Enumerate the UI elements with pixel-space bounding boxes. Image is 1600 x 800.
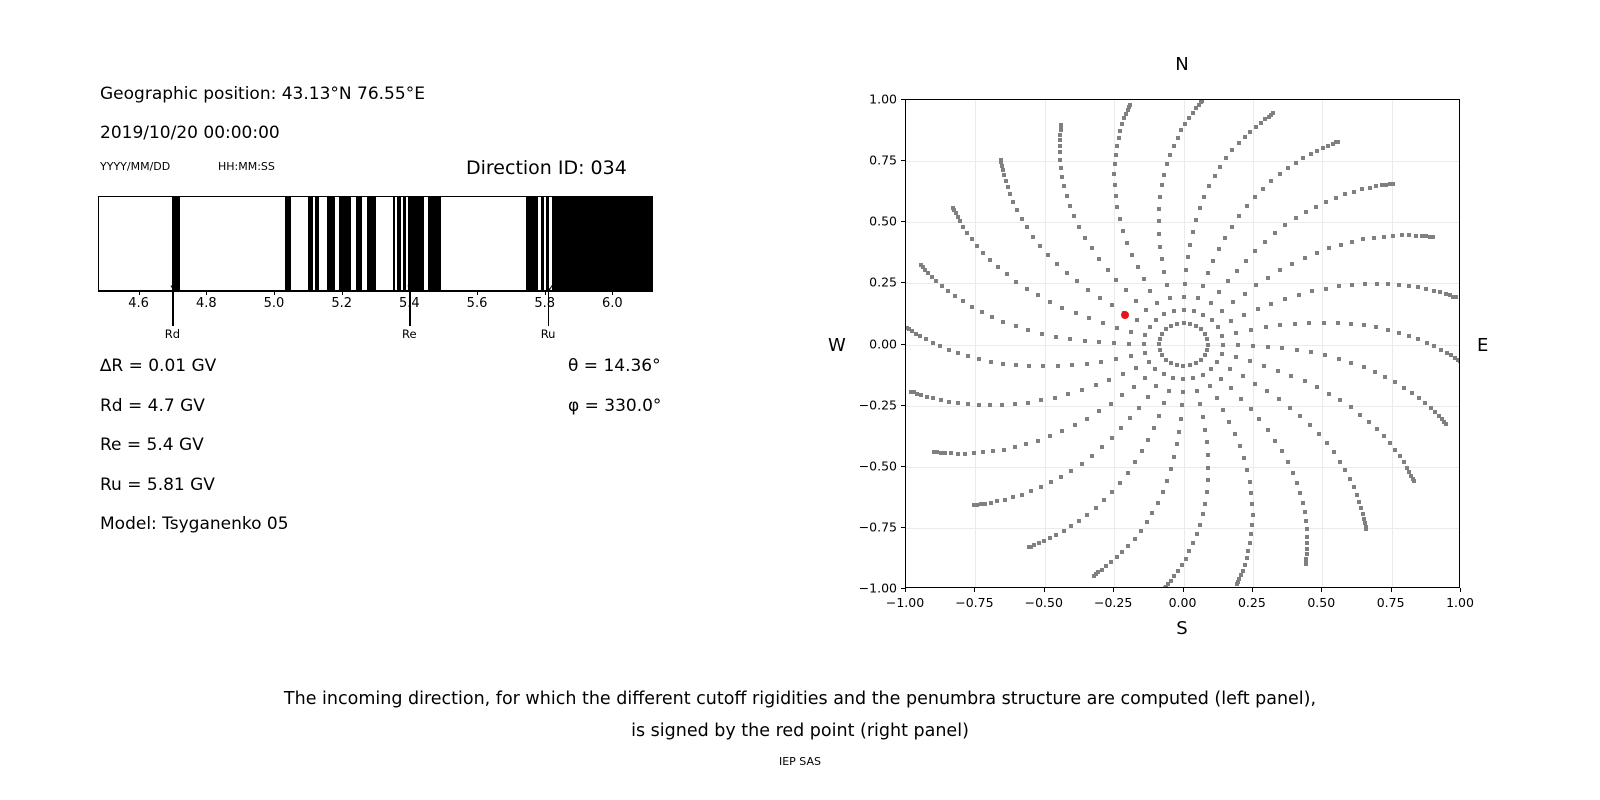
direction-point xyxy=(1322,321,1326,325)
time-format-hint: HH:MM:SS xyxy=(218,160,275,173)
gridline-vertical xyxy=(975,100,976,587)
date-format-hint: YYYY/MM/DD xyxy=(100,160,170,173)
direction-point xyxy=(1120,393,1124,397)
direction-point xyxy=(1075,279,1079,283)
direction-point xyxy=(1254,283,1258,287)
direction-point xyxy=(1182,321,1186,325)
direction-point xyxy=(1199,358,1203,362)
x-tick-label: −1.00 xyxy=(886,595,924,610)
direction-point xyxy=(925,395,929,399)
direction-point xyxy=(995,499,999,503)
direction-point xyxy=(1257,417,1261,421)
direction-point xyxy=(1162,173,1166,177)
direction-point xyxy=(1334,196,1338,200)
direction-point xyxy=(1321,146,1325,150)
direction-scatter-plot xyxy=(905,99,1460,588)
direction-point xyxy=(1004,179,1008,183)
direction-point xyxy=(958,219,962,223)
direction-point xyxy=(1085,362,1089,366)
direction-point xyxy=(1060,175,1064,179)
rigidity-tick-label: 4.6 xyxy=(128,296,149,311)
x-tick-label: −0.25 xyxy=(1094,595,1132,610)
direction-point xyxy=(1405,466,1409,470)
y-tick-mark xyxy=(901,221,905,222)
direction-point xyxy=(1058,138,1062,142)
direction-point xyxy=(1445,351,1449,355)
direction-point xyxy=(1133,460,1137,464)
x-tick-label: 1.00 xyxy=(1446,595,1474,610)
direction-point xyxy=(1099,360,1103,364)
direction-point xyxy=(1027,364,1031,368)
direction-point xyxy=(981,450,985,454)
direction-point xyxy=(1410,391,1414,395)
direction-point xyxy=(1286,460,1290,464)
direction-point xyxy=(1146,395,1150,399)
direction-point xyxy=(1177,430,1181,434)
direction-point xyxy=(1250,502,1254,506)
direction-point xyxy=(1191,376,1195,380)
direction-point xyxy=(1338,460,1342,464)
direction-point xyxy=(1114,194,1118,198)
direction-point xyxy=(1142,342,1146,346)
direction-point xyxy=(1191,541,1195,545)
direction-point xyxy=(1134,366,1138,370)
direction-point xyxy=(1109,402,1113,406)
direction-point xyxy=(1429,406,1433,410)
direction-point xyxy=(1383,375,1387,379)
direction-point xyxy=(1380,183,1384,187)
direction-point xyxy=(1154,318,1158,322)
direction-point xyxy=(1416,285,1420,289)
penumbra-band xyxy=(428,197,442,290)
direction-point xyxy=(1301,501,1305,505)
direction-point xyxy=(1423,401,1427,405)
y-tick-mark xyxy=(901,527,905,528)
direction-point xyxy=(1080,388,1084,392)
direction-point xyxy=(1283,223,1287,227)
direction-point xyxy=(1058,150,1062,154)
direction-point xyxy=(1234,355,1238,359)
direction-point xyxy=(1206,466,1210,470)
direction-point xyxy=(1097,257,1101,261)
direction-point xyxy=(1124,288,1128,292)
footer-credit: IEP SAS xyxy=(0,755,1600,768)
direction-point xyxy=(1160,183,1164,187)
direction-point xyxy=(1372,236,1376,240)
direction-point xyxy=(1400,233,1404,237)
direction-point xyxy=(965,231,969,235)
direction-point xyxy=(1432,344,1436,348)
parameter-right-1: φ = 330.0° xyxy=(568,396,661,416)
direction-point xyxy=(1172,144,1176,148)
direction-point xyxy=(1137,406,1141,410)
direction-point xyxy=(1100,568,1104,572)
direction-point xyxy=(1213,174,1217,178)
direction-point xyxy=(1233,432,1237,436)
direction-point xyxy=(1077,225,1081,229)
direction-point xyxy=(1025,287,1029,291)
penumbra-band xyxy=(408,197,424,290)
direction-point xyxy=(1029,489,1033,493)
gridline-horizontal xyxy=(906,528,1459,529)
direction-point xyxy=(1425,341,1429,345)
direction-point xyxy=(1109,560,1113,564)
gridline-vertical xyxy=(1184,100,1185,587)
direction-point xyxy=(956,452,960,456)
datetime-label: 2019/10/20 00:00:00 xyxy=(100,123,280,143)
direction-point xyxy=(989,360,993,364)
direction-point xyxy=(1207,184,1211,188)
direction-point xyxy=(1160,257,1164,261)
direction-point xyxy=(1241,374,1245,378)
y-tick-mark xyxy=(901,282,905,283)
direction-point xyxy=(1273,439,1277,443)
parameter-left-0: ∆R = 0.01 GV xyxy=(100,356,216,376)
direction-point xyxy=(1248,130,1252,134)
direction-point xyxy=(1163,586,1167,588)
x-tick-label: 0.00 xyxy=(1169,595,1197,610)
direction-point xyxy=(1176,136,1180,140)
direction-point xyxy=(1144,308,1148,312)
direction-point xyxy=(1003,498,1007,502)
y-tick-mark xyxy=(901,466,905,467)
direction-point xyxy=(1205,490,1209,494)
direction-point xyxy=(1062,529,1066,533)
direction-point xyxy=(1230,225,1234,229)
caption-line-1: The incoming direction, for which the di… xyxy=(0,683,1600,715)
direction-point xyxy=(1066,392,1070,396)
direction-point xyxy=(1375,282,1379,286)
direction-point xyxy=(1059,166,1063,170)
direction-point xyxy=(951,206,955,210)
direction-point xyxy=(1168,296,1172,300)
direction-point xyxy=(1083,236,1087,240)
rigidity-axis-line xyxy=(98,291,653,292)
penumbra-band xyxy=(552,197,653,290)
direction-point xyxy=(1315,251,1319,255)
direction-point xyxy=(1226,279,1230,283)
direction-point xyxy=(1026,328,1030,332)
direction-point xyxy=(1146,438,1150,442)
direction-point xyxy=(1162,372,1166,376)
direction-point xyxy=(1143,333,1147,337)
direction-point xyxy=(1154,384,1158,388)
direction-point xyxy=(1201,373,1205,377)
direction-point xyxy=(1361,512,1365,516)
direction-point xyxy=(1024,442,1028,446)
direction-point xyxy=(1332,450,1336,454)
direction-point xyxy=(1128,416,1132,420)
direction-point xyxy=(1181,364,1185,368)
direction-point xyxy=(1060,306,1064,310)
y-tick-label: −1.00 xyxy=(859,581,897,596)
direction-point xyxy=(1153,367,1157,371)
direction-point xyxy=(1235,269,1239,273)
direction-point xyxy=(940,284,944,288)
direction-point xyxy=(1133,537,1137,541)
direction-point xyxy=(1305,547,1309,551)
direction-point xyxy=(1097,409,1101,413)
direction-point xyxy=(1349,322,1353,326)
direction-point xyxy=(1058,133,1062,137)
direction-point xyxy=(1243,292,1247,296)
direction-point xyxy=(1367,420,1371,424)
parameter-left-2: Re = 5.4 GV xyxy=(100,435,204,455)
direction-point xyxy=(1305,535,1309,539)
direction-point xyxy=(1253,382,1257,386)
direction-point xyxy=(980,310,984,314)
direction-point xyxy=(1243,563,1247,567)
direction-point xyxy=(1236,343,1240,347)
direction-point xyxy=(1431,235,1435,239)
direction-point xyxy=(1158,245,1162,249)
direction-point xyxy=(1407,233,1411,237)
direction-point xyxy=(1059,475,1063,479)
direction-point xyxy=(1402,386,1406,390)
direction-point xyxy=(1243,135,1247,139)
direction-point xyxy=(1128,103,1132,107)
rigidity-tick-label: 5.8 xyxy=(534,296,555,311)
direction-point xyxy=(1161,490,1165,494)
direction-point xyxy=(1130,253,1134,257)
direction-point xyxy=(1143,376,1147,380)
penumbra-bands xyxy=(98,196,653,291)
direction-id-label: Direction ID: 034 xyxy=(466,157,627,179)
direction-point xyxy=(1182,295,1186,299)
rigidity-tick xyxy=(342,291,343,295)
direction-point xyxy=(1157,219,1161,223)
direction-point xyxy=(1266,276,1270,280)
compass-east-label: E xyxy=(1477,335,1488,356)
direction-point xyxy=(1113,183,1117,187)
direction-point xyxy=(972,451,976,455)
direction-point xyxy=(1206,453,1210,457)
direction-point xyxy=(1140,449,1144,453)
direction-point xyxy=(977,403,981,407)
direction-point xyxy=(1336,140,1340,144)
direction-point xyxy=(1172,309,1176,313)
direction-point xyxy=(1324,200,1328,204)
direction-point xyxy=(1249,407,1253,411)
direction-point xyxy=(1237,214,1241,218)
direction-point xyxy=(1305,527,1309,531)
direction-point xyxy=(1219,377,1223,381)
direction-point xyxy=(1220,352,1224,356)
penumbra-band xyxy=(367,197,376,290)
direction-point xyxy=(1126,544,1130,548)
direction-point xyxy=(1359,506,1363,510)
selected-direction-point[interactable] xyxy=(1121,311,1129,319)
direction-point xyxy=(1168,153,1172,157)
direction-point xyxy=(919,263,923,267)
direction-point xyxy=(966,354,970,358)
direction-point xyxy=(1074,311,1078,315)
penumbra-band xyxy=(315,197,319,290)
direction-point xyxy=(1118,129,1122,133)
gridline-vertical xyxy=(1045,100,1046,587)
direction-point xyxy=(1184,557,1188,561)
direction-point xyxy=(990,315,994,319)
direction-point xyxy=(1278,172,1282,176)
direction-point xyxy=(1325,441,1329,445)
rigidity-tick-label: 6.0 xyxy=(602,296,623,311)
parameter-left-4: Model: Tsyganenko 05 xyxy=(100,514,289,534)
geographic-position-label: Geographic position: 43.13°N 76.55°E xyxy=(100,84,425,104)
direction-point xyxy=(1245,204,1249,208)
direction-point xyxy=(1364,527,1368,531)
direction-point xyxy=(1114,153,1118,157)
direction-point xyxy=(1438,290,1442,294)
x-tick-mark xyxy=(1113,588,1114,592)
direction-point xyxy=(1249,532,1253,536)
direction-point xyxy=(1157,342,1161,346)
direction-point xyxy=(1271,111,1275,115)
direction-point xyxy=(1041,364,1045,368)
compass-west-label: W xyxy=(828,335,846,356)
direction-point xyxy=(1145,520,1149,524)
direction-point xyxy=(961,299,965,303)
direction-point xyxy=(1183,122,1187,126)
direction-point xyxy=(1077,519,1081,523)
penumbra-band xyxy=(526,197,538,290)
direction-point xyxy=(970,237,974,241)
direction-point xyxy=(1215,396,1219,400)
direction-point xyxy=(1304,210,1308,214)
direction-point xyxy=(1132,385,1136,389)
direction-point xyxy=(1090,454,1094,458)
direction-point xyxy=(1352,485,1356,489)
parameter-right-0: θ = 14.36° xyxy=(568,356,661,376)
direction-point xyxy=(981,251,985,255)
direction-point xyxy=(1048,434,1052,438)
direction-point xyxy=(1386,328,1390,332)
direction-point xyxy=(1169,361,1173,365)
direction-point xyxy=(1315,385,1319,389)
direction-point xyxy=(1056,364,1060,368)
direction-point xyxy=(1036,293,1040,297)
direction-point xyxy=(947,348,951,352)
figure-caption: The incoming direction, for which the di… xyxy=(0,683,1600,747)
direction-point xyxy=(1196,296,1200,300)
direction-point xyxy=(1355,493,1359,497)
direction-point xyxy=(931,396,935,400)
compass-south-label: S xyxy=(1176,618,1187,639)
direction-point xyxy=(1107,378,1111,382)
direction-point xyxy=(1229,319,1233,323)
gridline-horizontal xyxy=(906,161,1459,162)
direction-point xyxy=(1221,343,1225,347)
direction-point xyxy=(970,305,974,309)
direction-point xyxy=(1382,434,1386,438)
direction-point xyxy=(1407,284,1411,288)
direction-point xyxy=(1358,413,1362,417)
direction-point xyxy=(1187,116,1191,120)
direction-point xyxy=(1220,309,1224,313)
direction-point xyxy=(1062,184,1066,188)
direction-point xyxy=(1059,123,1063,127)
direction-point xyxy=(1157,414,1161,418)
cutoff-marker-label: Rd xyxy=(165,327,180,341)
direction-point xyxy=(1188,322,1192,326)
direction-point xyxy=(1176,569,1180,573)
direction-point xyxy=(1295,348,1299,352)
direction-point xyxy=(1080,462,1084,466)
rigidity-axis: 4.64.85.05.25.45.65.86.0RdReRu xyxy=(98,291,653,351)
direction-point xyxy=(1249,328,1253,332)
direction-point xyxy=(1249,491,1253,495)
direction-point xyxy=(1126,471,1130,475)
direction-point xyxy=(1245,556,1249,560)
direction-point xyxy=(1231,300,1235,304)
direction-point xyxy=(932,450,936,454)
direction-point xyxy=(1269,302,1273,306)
y-tick-mark xyxy=(901,99,905,100)
direction-point xyxy=(1317,432,1321,436)
arrow-shaft xyxy=(548,290,549,326)
direction-point xyxy=(1188,243,1192,247)
direction-point xyxy=(1069,524,1073,528)
rigidity-tick xyxy=(274,291,275,295)
direction-point xyxy=(1382,235,1386,239)
penumbra-panel: Geographic position: 43.13°N 76.55°E 201… xyxy=(0,0,700,660)
direction-point xyxy=(1288,406,1292,410)
direction-point xyxy=(1114,278,1118,282)
direction-point xyxy=(1201,512,1205,516)
direction-point xyxy=(1040,332,1044,336)
direction-point xyxy=(1228,367,1232,371)
direction-point xyxy=(1277,397,1281,401)
direction-point xyxy=(1165,283,1169,287)
direction-point xyxy=(1198,206,1202,210)
y-tick-label: −0.50 xyxy=(859,458,897,473)
direction-point xyxy=(1206,478,1210,482)
direction-point xyxy=(1280,449,1284,453)
direction-point xyxy=(1352,190,1356,194)
direction-point xyxy=(1181,390,1185,394)
direction-point xyxy=(1200,99,1204,103)
direction-point xyxy=(1172,455,1176,459)
direction-point xyxy=(1000,403,1004,407)
direction-point xyxy=(1363,282,1367,286)
gridline-horizontal xyxy=(906,222,1459,223)
direction-point xyxy=(1253,249,1257,253)
direction-point xyxy=(1309,350,1313,354)
direction-point xyxy=(1121,229,1125,233)
direction-point xyxy=(1069,469,1073,473)
direction-point xyxy=(1373,370,1377,374)
direction-point xyxy=(1198,523,1202,527)
direction-point xyxy=(1217,290,1221,294)
direction-point xyxy=(1092,574,1096,578)
direction-point xyxy=(1309,152,1313,156)
direction-point xyxy=(963,452,967,456)
direction-point xyxy=(1124,112,1128,116)
direction-point xyxy=(1393,380,1397,384)
direction-point xyxy=(1209,301,1213,305)
y-tick-label: 1.00 xyxy=(869,92,897,107)
arrow-shaft xyxy=(172,290,173,326)
direction-point xyxy=(1283,297,1287,301)
direction-point xyxy=(1191,230,1195,234)
direction-point xyxy=(1303,379,1307,383)
direction-point xyxy=(1002,173,1006,177)
cutoff-marker-label: Re xyxy=(402,327,417,341)
y-tick-label: 0.25 xyxy=(869,275,897,290)
direction-point xyxy=(1001,362,1005,366)
direction-point xyxy=(1120,550,1124,554)
direction-point xyxy=(1198,402,1202,406)
direction-point xyxy=(1343,468,1347,472)
